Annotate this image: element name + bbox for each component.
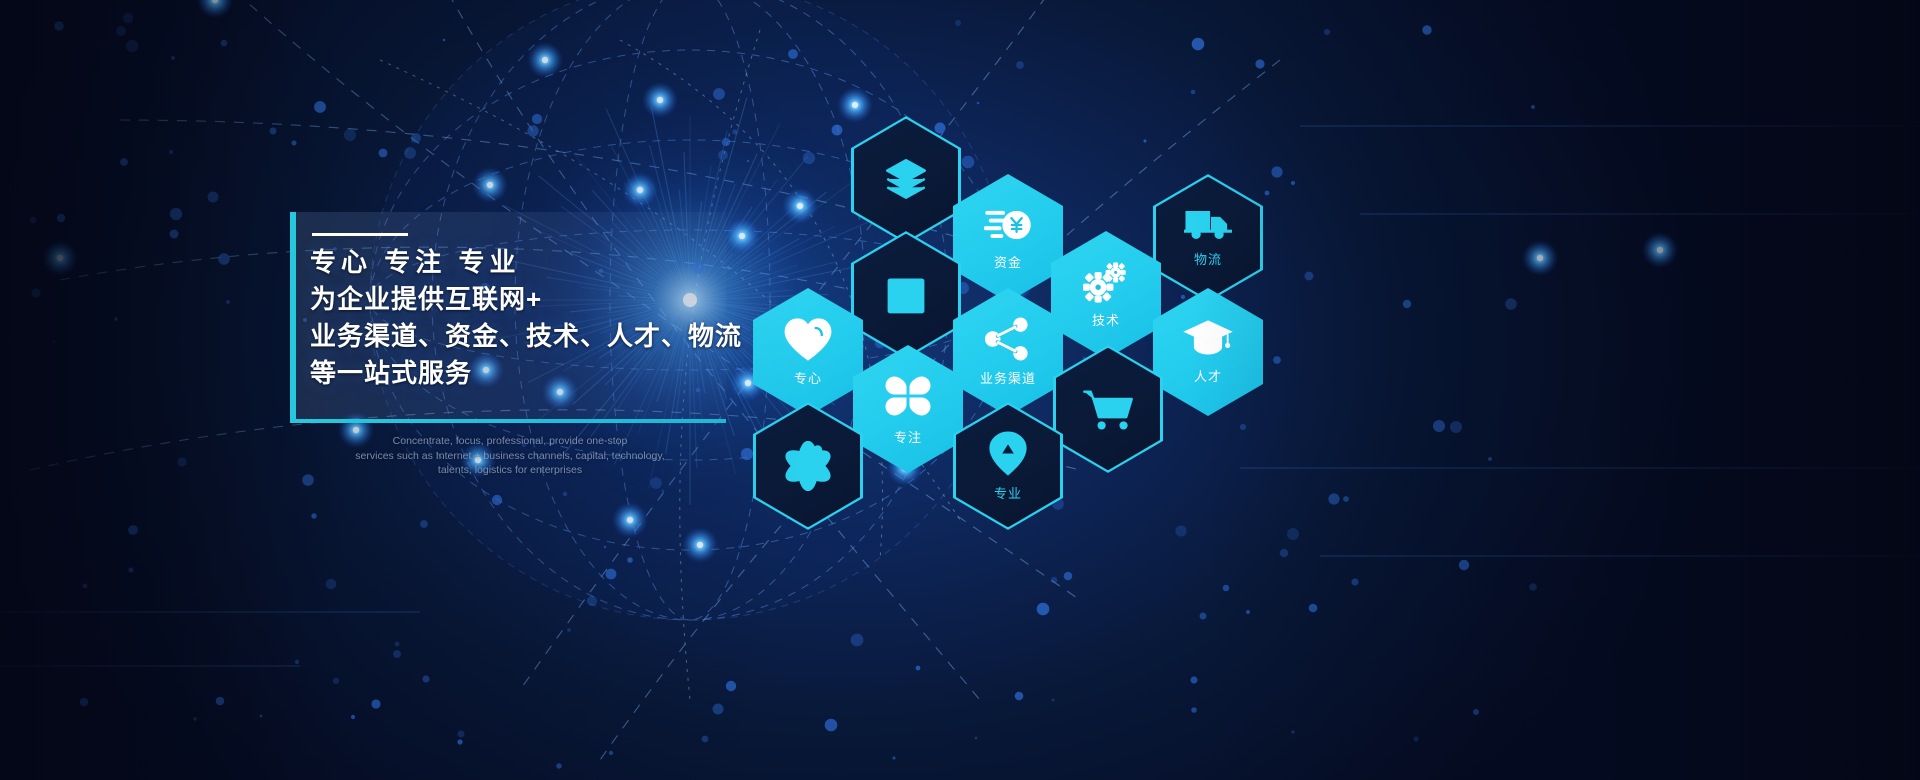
headline-line-3: 业务渠道、资金、技术、人才、物流 [310, 318, 740, 355]
graduation-cap-icon [1183, 319, 1233, 359]
hex-tile-layers[interactable] [851, 116, 961, 244]
layers-icon [881, 155, 931, 205]
headline-line-4: 等一站式服务 [310, 355, 740, 392]
hex-tile-focus2[interactable]: 专注 [853, 345, 963, 473]
panel-underline [290, 419, 726, 423]
subtitle-line-1: Concentrate, focus, professional, provid… [300, 434, 720, 449]
hex-tile-logistics[interactable]: 物流 [1153, 174, 1263, 302]
hex-tile-cart[interactable]: e [1053, 345, 1163, 473]
hex-tile-focus1[interactable]: 专心 [753, 288, 863, 416]
ecommerce-cart-icon: e [1082, 388, 1134, 430]
yen-coin-icon [984, 205, 1032, 245]
hex-label-logistics: 物流 [1194, 249, 1222, 268]
hex-label-tech: 技术 [1092, 310, 1120, 329]
hex-tile-funds[interactable]: 资金 [953, 174, 1063, 302]
hex-label-funds: 资金 [994, 252, 1022, 271]
subtitle-block: Concentrate, focus, professional, provid… [300, 434, 720, 478]
headline-line-1: 专心 专注 专业 [310, 244, 740, 281]
clover-icon [884, 372, 932, 420]
share-node-icon [985, 317, 1031, 361]
heart-icon [783, 317, 833, 361]
subtitle-line-2: services such as Internet + business cha… [300, 449, 720, 464]
headline-block: 专心 专注 专业 为企业提供互联网+ 业务渠道、资金、技术、人才、物流 等一站式… [310, 244, 740, 392]
hex-label-talent: 人才 [1194, 366, 1222, 385]
hex-tile-channels[interactable]: 业务渠道 [953, 288, 1063, 416]
headline-rule [312, 233, 408, 236]
banner-hero: 专心 专注 专业 为企业提供互联网+ 业务渠道、资金、技术、人才、物流 等一站式… [0, 0, 1920, 780]
hex-label-channels: 业务渠道 [980, 368, 1036, 387]
hex-label-pro: 专业 [994, 483, 1022, 502]
subtitle-line-3: talents, logistics for enterprises [300, 463, 720, 478]
hexagon-cluster: 资金物流技术专心业务渠道人才专注e专业 [0, 0, 1920, 780]
hex-tile-chart[interactable] [851, 231, 961, 359]
hex-tile-tech[interactable]: 技术 [1051, 231, 1161, 359]
headline-line-2: 为企业提供互联网+ [310, 281, 740, 318]
hex-label-focus1: 专心 [794, 368, 822, 387]
hex-label-focus2: 专注 [894, 427, 922, 446]
atom-icon [782, 441, 834, 491]
hex-tile-atom[interactable] [753, 402, 863, 530]
svg-text:e: e [1107, 402, 1116, 419]
gears-icon [1083, 261, 1129, 303]
growth-chart-icon [883, 272, 929, 318]
hex-tile-pro[interactable]: 专业 [953, 402, 1063, 530]
hex-tile-talent[interactable]: 人才 [1153, 288, 1263, 416]
truck-icon [1184, 208, 1232, 242]
diamond-icon [987, 430, 1029, 476]
